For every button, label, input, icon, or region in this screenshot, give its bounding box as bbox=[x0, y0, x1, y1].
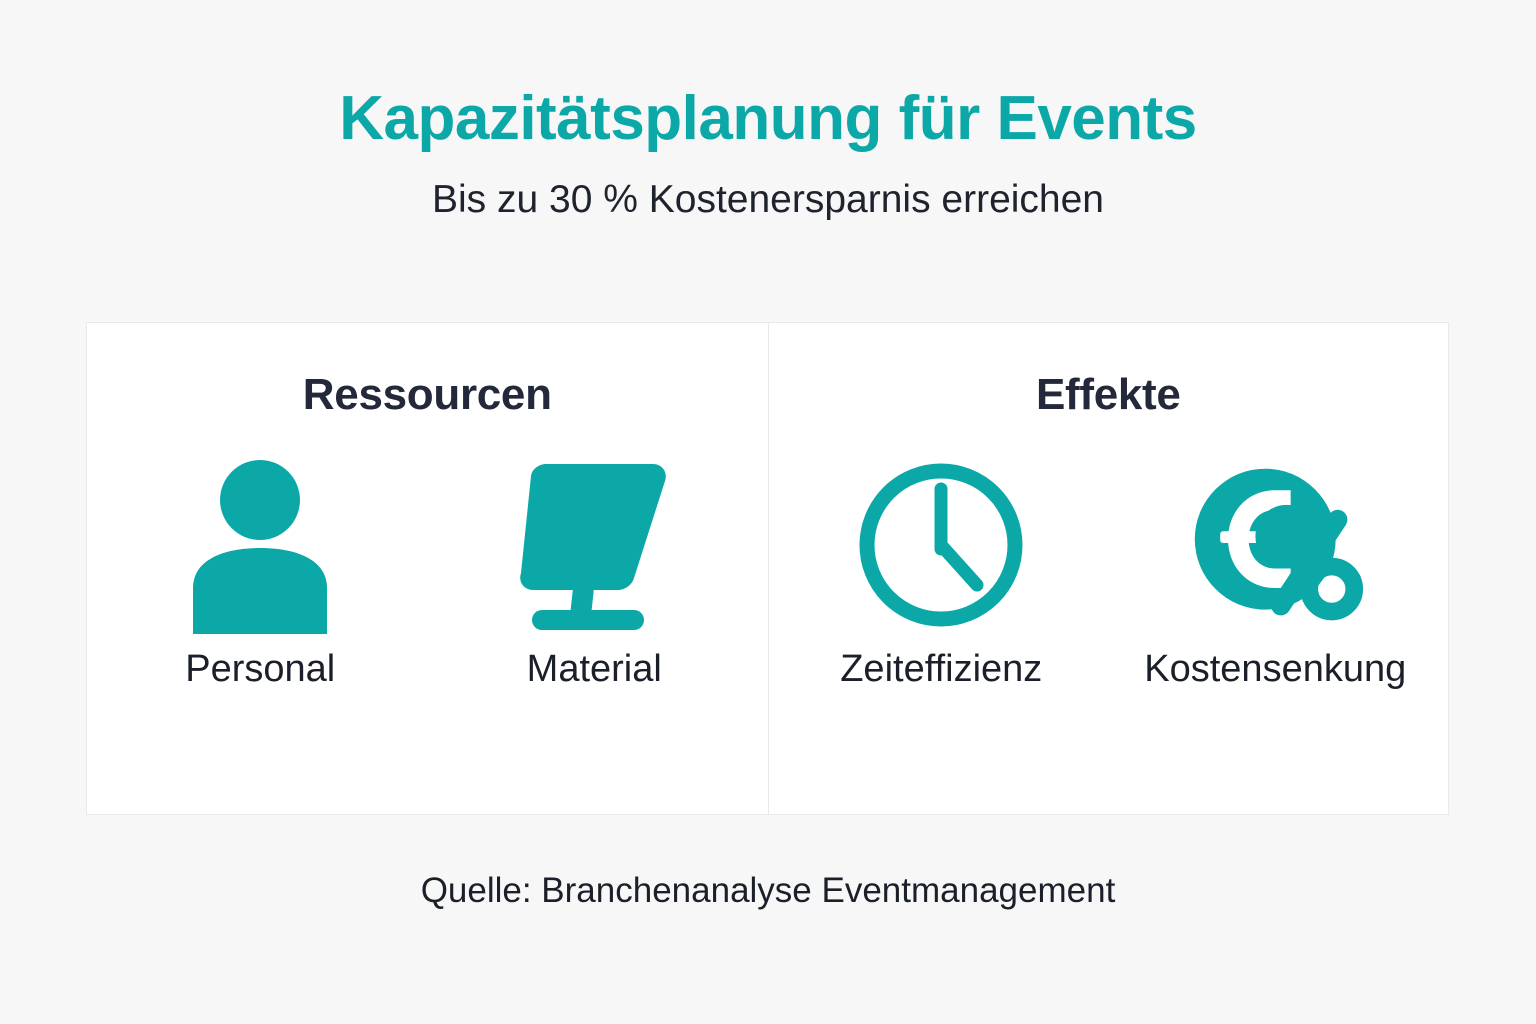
item-label-personal: Personal bbox=[185, 649, 335, 691]
monitor-icon bbox=[504, 455, 684, 635]
item-material: Material bbox=[479, 455, 709, 691]
person-icon bbox=[170, 455, 350, 635]
item-label-material: Material bbox=[527, 649, 662, 691]
panel-ressourcen: Ressourcen Personal bbox=[87, 323, 768, 814]
item-personal: Personal bbox=[145, 455, 375, 691]
clock-icon bbox=[851, 455, 1031, 635]
item-zeiteffizienz: Zeiteffizienz bbox=[826, 455, 1056, 691]
item-label-zeiteffizienz: Zeiteffizienz bbox=[840, 649, 1042, 691]
panel-effekte: Effekte Zeiteffizienz bbox=[768, 323, 1449, 814]
source-note: Quelle: Branchenanalyse Eventmanagement bbox=[0, 872, 1536, 911]
infographic-root: Kapazitätsplanung für Events Bis zu 30 %… bbox=[0, 0, 1536, 1024]
panel-items-effekte: Zeiteffizienz bbox=[826, 455, 1390, 691]
page-subtitle: Bis zu 30 % Kostenersparnis erreichen bbox=[0, 179, 1536, 222]
header: Kapazitätsplanung für Events Bis zu 30 %… bbox=[0, 0, 1536, 222]
content-card: Ressourcen Personal bbox=[86, 322, 1449, 815]
item-label-kostensenkung: Kostensenkung bbox=[1144, 649, 1406, 691]
panel-heading-effekte: Effekte bbox=[1036, 371, 1181, 419]
page-title: Kapazitätsplanung für Events bbox=[0, 86, 1536, 153]
panel-items-ressourcen: Personal Material bbox=[145, 455, 709, 691]
euro-percent-icon bbox=[1185, 455, 1365, 635]
panel-heading-ressourcen: Ressourcen bbox=[303, 371, 552, 419]
item-kostensenkung: Kostensenkung bbox=[1160, 455, 1390, 691]
